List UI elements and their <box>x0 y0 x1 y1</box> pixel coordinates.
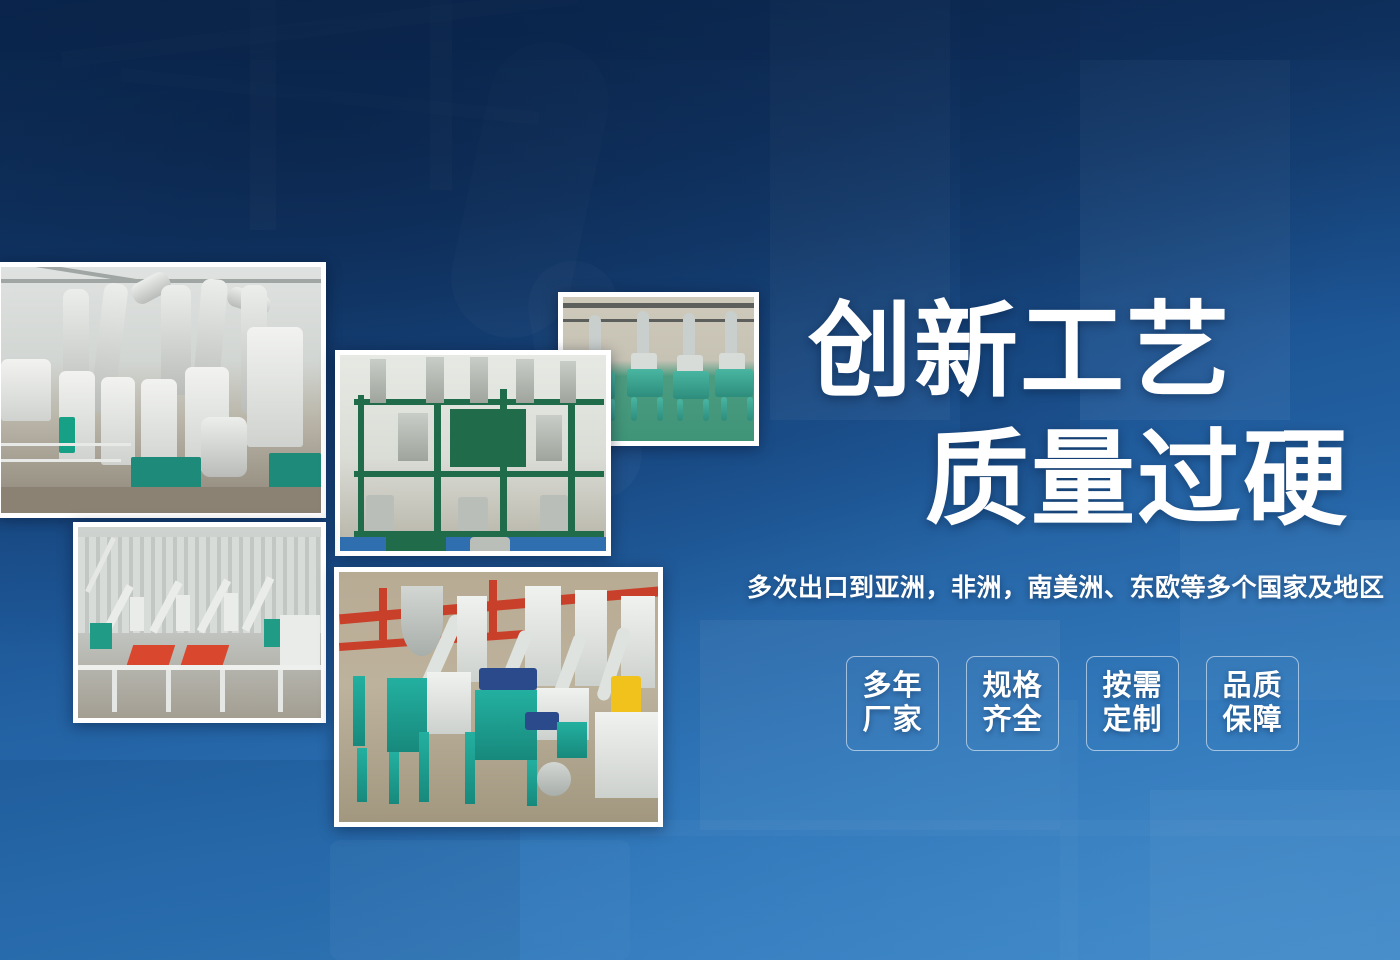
photo-platform-red-chutes <box>73 522 326 723</box>
photo-green-frame-mill <box>335 350 611 556</box>
photo-mill-line <box>0 262 326 518</box>
photo-teal-mill-battery <box>334 567 663 827</box>
promo-banner: 创新工艺 质量过硬 多次出口到亚洲，非洲，南美洲、东欧等多个国家及地区 多年 厂… <box>0 0 1400 960</box>
